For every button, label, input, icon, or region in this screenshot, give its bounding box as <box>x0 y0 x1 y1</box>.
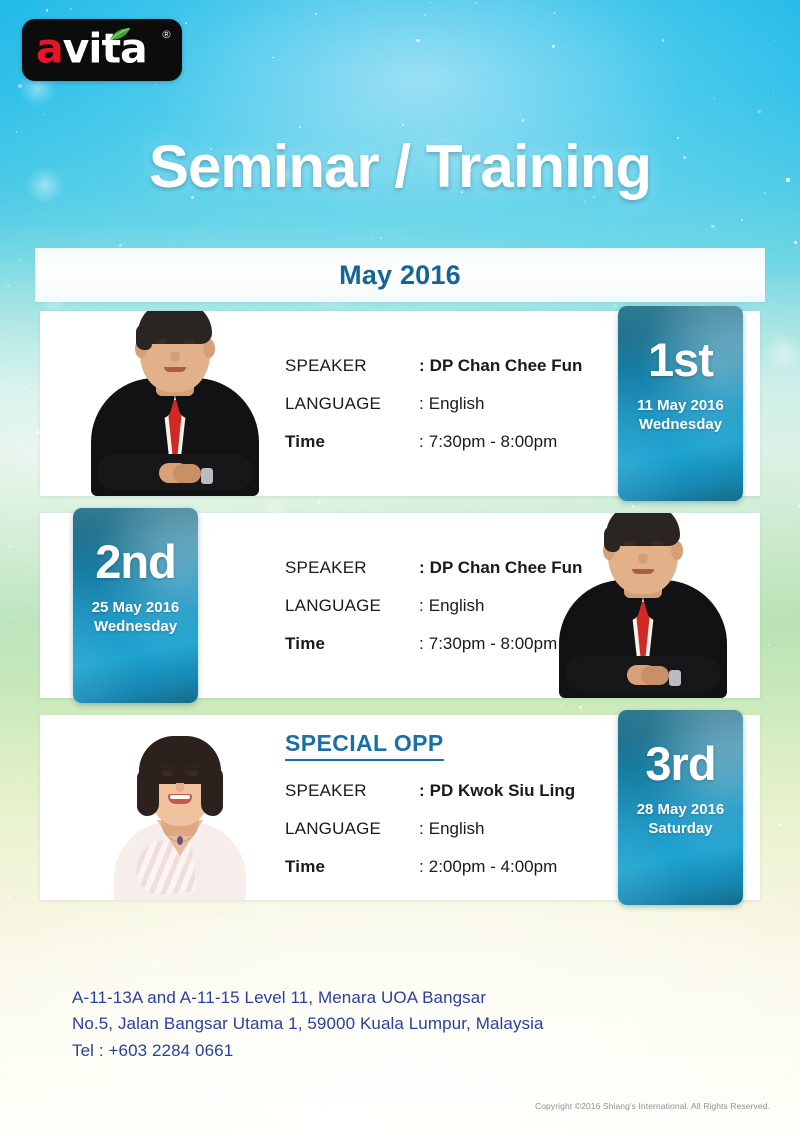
event-row: SPECIAL OPP SPEAKER :PD Kwok Siu Ling LA… <box>35 715 765 900</box>
language-text: English <box>429 596 485 615</box>
speaker-label: SPEAKER <box>285 356 419 376</box>
logo-letter-a: a <box>36 25 63 73</box>
female-speaker-photo <box>80 715 280 900</box>
badge-date: 11 May 2016 <box>637 397 724 416</box>
event-row: SPEAKER :DP Chan Chee Fun LANGUAGE :Engl… <box>35 311 765 496</box>
event-details: SPEAKER :DP Chan Chee Fun LANGUAGE :Engl… <box>285 513 582 698</box>
telephone-line: Tel : +603 2284 0661 <box>72 1038 732 1064</box>
language-value: :English <box>419 819 485 839</box>
time-text: 7:30pm - 8:00pm <box>429 432 558 451</box>
badge-day: Saturday <box>648 820 712 839</box>
language-text: English <box>429 819 485 838</box>
event-details: SPECIAL OPP SPEAKER :PD Kwok Siu Ling LA… <box>285 715 575 900</box>
language-label: LANGUAGE <box>285 394 419 414</box>
time-label: Time <box>285 432 419 452</box>
speaker-value: :DP Chan Chee Fun <box>419 356 582 376</box>
speaker-line: SPEAKER :DP Chan Chee Fun <box>285 356 582 376</box>
event-list: SPEAKER :DP Chan Chee Fun LANGUAGE :Engl… <box>35 311 765 917</box>
language-text: English <box>429 394 485 413</box>
month-header: May 2016 <box>35 248 765 302</box>
badge-date: 28 May 2016 <box>637 801 725 820</box>
male-speaker-photo <box>75 311 275 496</box>
speaker-value: :PD Kwok Siu Ling <box>419 781 575 801</box>
language-line: LANGUAGE :English <box>285 819 575 839</box>
date-badge: 3rd 28 May 2016 Saturday <box>618 710 743 905</box>
time-line: Time :7:30pm - 8:00pm <box>285 634 582 654</box>
speaker-line: SPEAKER :PD Kwok Siu Ling <box>285 781 575 801</box>
month-label: May 2016 <box>339 260 461 291</box>
speaker-label: SPEAKER <box>285 781 419 801</box>
logo-letters-vita: vita <box>63 25 147 73</box>
language-label: LANGUAGE <box>285 819 419 839</box>
badge-ordinal: 1st <box>648 336 713 383</box>
speaker-label: SPEAKER <box>285 558 419 578</box>
time-value: :7:30pm - 8:00pm <box>419 634 557 654</box>
language-value: :English <box>419 596 485 616</box>
time-label: Time <box>285 857 419 877</box>
avita-logo: avita ® <box>22 19 182 81</box>
speaker-value: :DP Chan Chee Fun <box>419 558 582 578</box>
time-label: Time <box>285 634 419 654</box>
time-text: 7:30pm - 8:00pm <box>429 634 558 653</box>
contact-address: A-11-13A and A-11-15 Level 11, Menara UO… <box>72 985 732 1064</box>
page-title: Seminar / Training <box>0 132 800 201</box>
badge-ordinal: 2nd <box>95 538 176 585</box>
speaker-name: DP Chan Chee Fun <box>430 356 583 375</box>
address-line-1: A-11-13A and A-11-15 Level 11, Menara UO… <box>72 985 732 1011</box>
leaf-icon <box>109 28 131 41</box>
language-line: LANGUAGE :English <box>285 596 582 616</box>
language-line: LANGUAGE :English <box>285 394 582 414</box>
time-text: 2:00pm - 4:00pm <box>429 857 558 876</box>
event-row: SPEAKER :DP Chan Chee Fun LANGUAGE :Engl… <box>35 513 765 698</box>
copyright-notice: Copyright ©2016 Shiang's International. … <box>535 1101 770 1111</box>
seminar-poster: avita ® Seminar / Training May 2016 <box>0 0 800 1132</box>
badge-date: 25 May 2016 <box>92 599 180 618</box>
language-label: LANGUAGE <box>285 596 419 616</box>
registered-trademark-icon: ® <box>161 28 172 41</box>
badge-ordinal: 3rd <box>645 740 715 787</box>
time-value: :7:30pm - 8:00pm <box>419 432 557 452</box>
time-value: :2:00pm - 4:00pm <box>419 857 557 877</box>
time-line: Time :7:30pm - 8:00pm <box>285 432 582 452</box>
date-badge: 1st 11 May 2016 Wednesday <box>618 306 743 501</box>
badge-day: Wednesday <box>639 416 722 435</box>
speaker-name: PD Kwok Siu Ling <box>430 781 575 800</box>
special-opp-heading: SPECIAL OPP <box>285 730 444 761</box>
date-badge: 2nd 25 May 2016 Wednesday <box>73 508 198 703</box>
event-details: SPEAKER :DP Chan Chee Fun LANGUAGE :Engl… <box>285 311 582 496</box>
speaker-name: DP Chan Chee Fun <box>430 558 583 577</box>
language-value: :English <box>419 394 485 414</box>
address-line-2: No.5, Jalan Bangsar Utama 1, 59000 Kuala… <box>72 1011 732 1037</box>
speaker-line: SPEAKER :DP Chan Chee Fun <box>285 558 582 578</box>
badge-day: Wednesday <box>94 618 177 637</box>
time-line: Time :2:00pm - 4:00pm <box>285 857 575 877</box>
